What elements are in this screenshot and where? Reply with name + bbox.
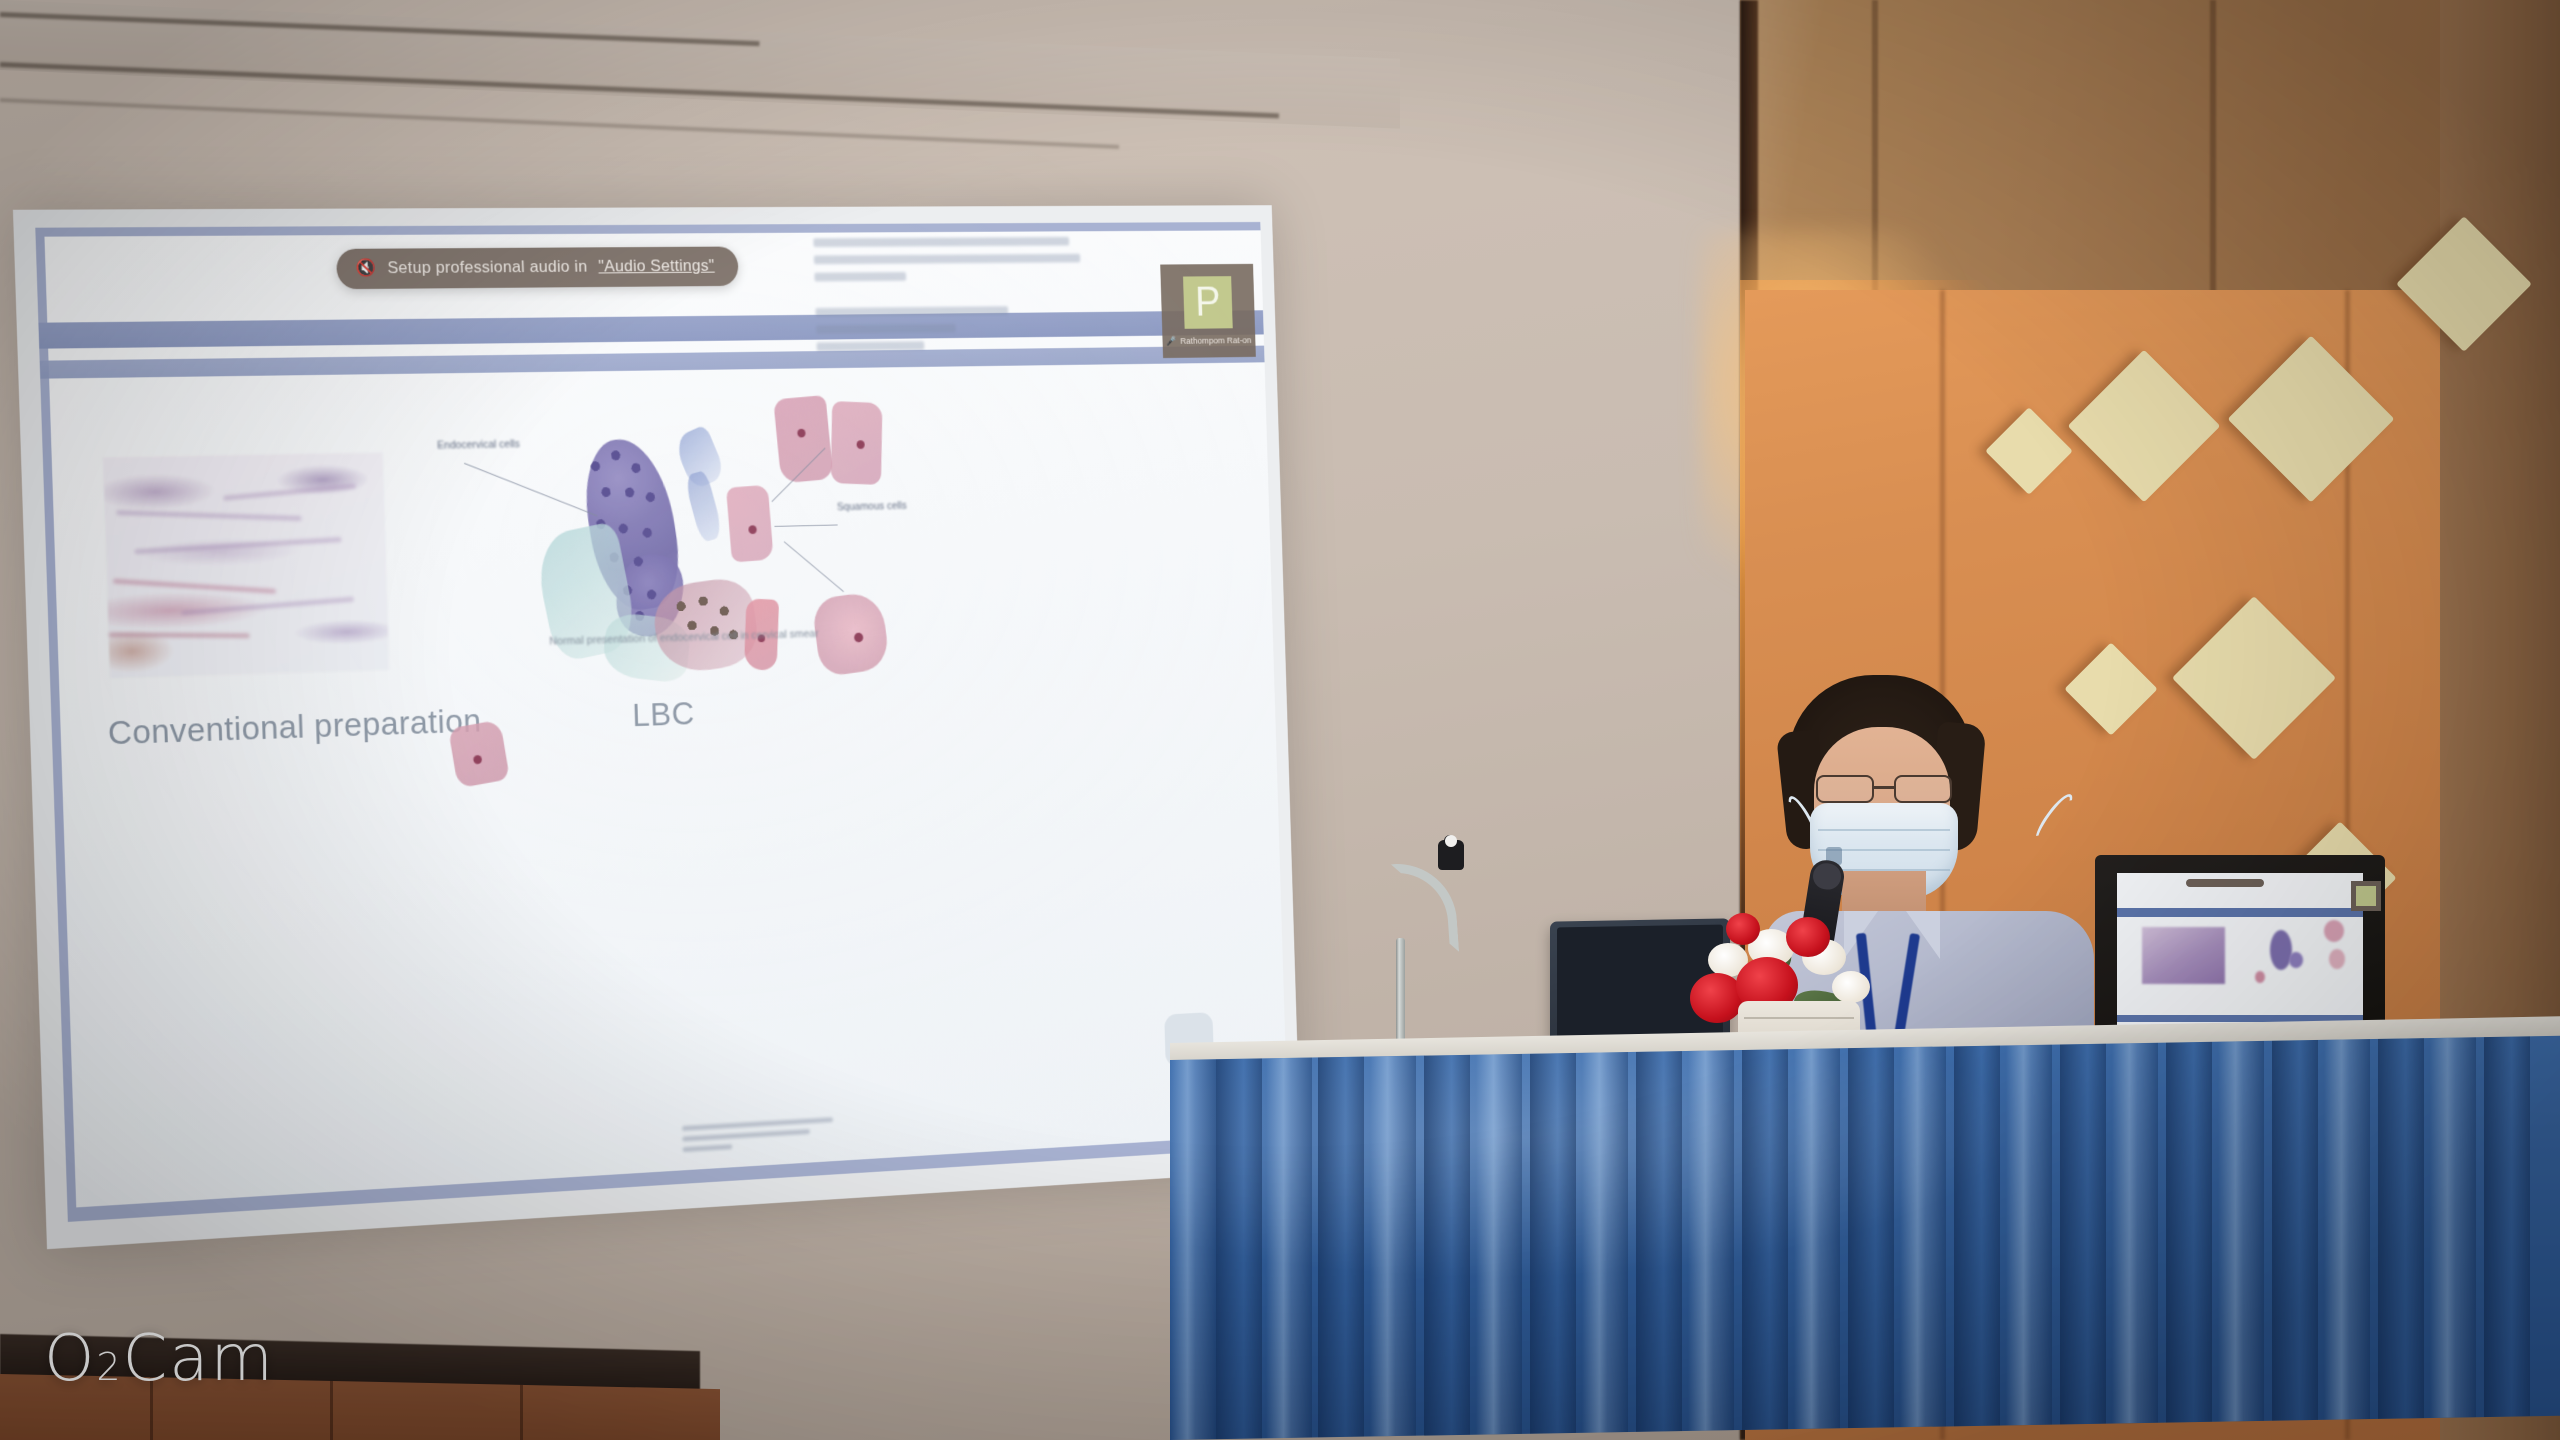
meeting-info-text <box>813 237 1083 360</box>
participant-name: Rathompom Rat-on <box>1180 335 1251 346</box>
white-filler-flower <box>1832 971 1870 1003</box>
photo-stage: 🔇 Setup professional audio in "Audio Set… <box>0 0 2560 1440</box>
annotation-leader-line <box>464 463 598 517</box>
laptop-left-thumbnail <box>2142 927 2226 984</box>
laptop-webcam-overlay <box>2351 881 2381 911</box>
watermark-subscript: 2 <box>96 1345 122 1389</box>
squamous-cells-annotation: Squamous cells <box>837 498 907 515</box>
microphone-clip <box>1438 840 1464 870</box>
cell-nuclei-dots <box>663 588 751 665</box>
watermark-o: O <box>44 1322 96 1396</box>
red-rose <box>1786 917 1830 957</box>
speaker-mute-icon: 🔇 <box>355 258 376 278</box>
slide-footnote <box>682 1117 846 1158</box>
app-watermark: O2Cam <box>44 1322 275 1396</box>
participant-avatar: P <box>1183 276 1233 329</box>
projection-screen: 🔇 Setup professional audio in "Audio Set… <box>13 205 1301 1249</box>
participant-name-row: 🎤 Rathompom Rat-on <box>1166 335 1251 346</box>
conventional-smear-micrograph <box>103 453 390 679</box>
annotation-leader-line <box>774 524 837 527</box>
presentation-window: 🔇 Setup professional audio in "Audio Set… <box>35 222 1288 1222</box>
watermark-cam: Cam <box>123 1322 275 1396</box>
eyeglasses <box>1810 775 1958 805</box>
squamous-cell <box>831 401 883 485</box>
projected-image: 🔇 Setup professional audio in "Audio Set… <box>13 205 1301 1249</box>
laptop-screen <box>2117 873 2363 1031</box>
laptop-toast-mirror <box>2186 879 2264 887</box>
participant-tile[interactable]: P 🎤 Rathompom Rat-on <box>1160 264 1256 358</box>
lbc-label: LBC <box>632 695 696 735</box>
audio-settings-toast[interactable]: 🔇 Setup professional audio in "Audio Set… <box>336 246 739 289</box>
squamous-cell <box>726 485 774 563</box>
toast-text: Setup professional audio in <box>387 257 587 278</box>
lbc-cytology-diagram <box>426 388 913 708</box>
slide-content: Conventional preparation <box>49 370 1288 1213</box>
table-skirt <box>1170 1036 2560 1440</box>
squamous-cell <box>448 719 510 788</box>
endocervical-cells-annotation: Endocervical cells <box>437 438 520 451</box>
mask-ear-loop <box>2030 790 2077 846</box>
microphone-muted-icon: 🎤 <box>1166 336 1177 346</box>
gooseneck-microphone-stand <box>1390 838 1460 1058</box>
audio-settings-link[interactable]: "Audio Settings" <box>598 256 715 276</box>
annotation-leader-line <box>784 541 844 592</box>
red-rose <box>1726 913 1760 945</box>
cell-fragment <box>683 470 724 543</box>
